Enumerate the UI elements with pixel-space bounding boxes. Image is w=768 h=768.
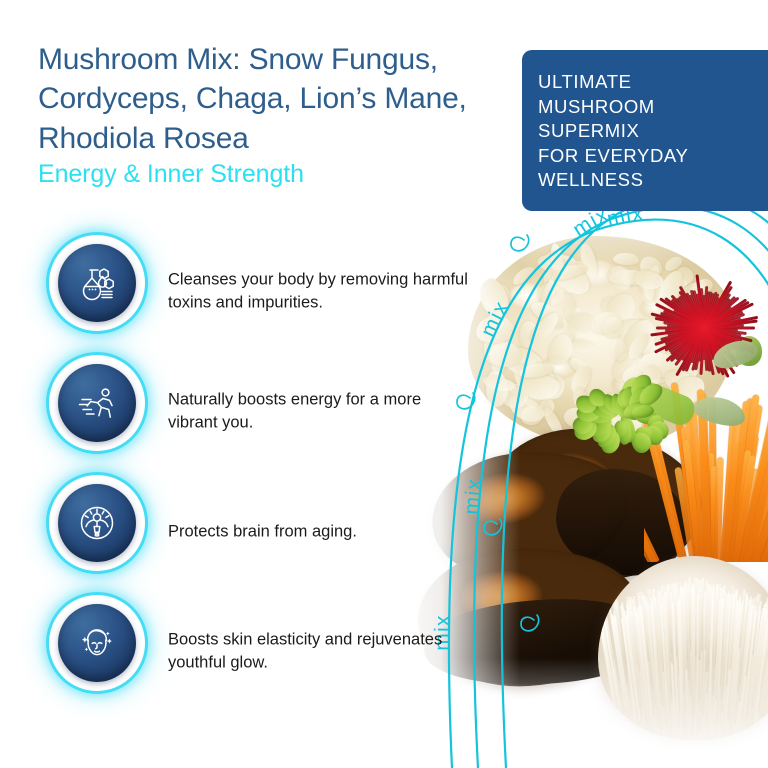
rhodiola-rosea-image bbox=[566, 368, 690, 460]
benefit-text: Cleanses your body by removing harmful t… bbox=[168, 269, 468, 316]
badge-line: ULTIMATE bbox=[538, 70, 764, 95]
benefit-item: Boosts skin elasticity and rejuvenates y… bbox=[46, 592, 466, 712]
benefits-list: Cleanses your body by removing harmful t… bbox=[46, 232, 466, 712]
badge-line: MUSHROOM bbox=[538, 95, 764, 120]
benefit-item: Cleanses your body by removing harmful t… bbox=[46, 232, 466, 352]
benefit-item: Protects brain from aging. bbox=[46, 472, 466, 592]
benefit-icon-ring bbox=[46, 232, 148, 334]
neuron-brain-icon bbox=[58, 484, 136, 562]
woman-face-sparkle-icon bbox=[58, 604, 136, 682]
page-subheadline: Energy & Inner Strength bbox=[38, 160, 304, 189]
flask-detox-icon bbox=[58, 244, 136, 322]
running-person-icon bbox=[58, 364, 136, 442]
badge-line: FOR EVERYDAY bbox=[538, 144, 764, 169]
benefit-text: Naturally boosts energy for a more vibra… bbox=[168, 389, 468, 436]
benefit-text: Protects brain from aging. bbox=[168, 520, 468, 543]
benefit-icon-ring bbox=[46, 592, 148, 694]
badge-line: WELLNESS bbox=[538, 168, 764, 193]
benefit-text: Boosts skin elasticity and rejuvenates y… bbox=[168, 629, 468, 676]
benefit-item: Naturally boosts energy for a more vibra… bbox=[46, 352, 466, 472]
page-headline: Mushroom Mix: Snow Fungus, Cordyceps, Ch… bbox=[38, 40, 508, 158]
benefit-icon-ring bbox=[46, 352, 148, 454]
badge-line: SUPERMIX bbox=[538, 119, 764, 144]
bottlebrush-flower-image bbox=[646, 276, 762, 380]
product-claim-badge: ULTIMATE MUSHROOM SUPERMIX FOR EVERYDAY … bbox=[522, 50, 768, 211]
benefit-icon-ring bbox=[46, 472, 148, 574]
infographic-canvas: mix mix mix mix mix Mushroom Mix: Snow F… bbox=[0, 0, 768, 768]
